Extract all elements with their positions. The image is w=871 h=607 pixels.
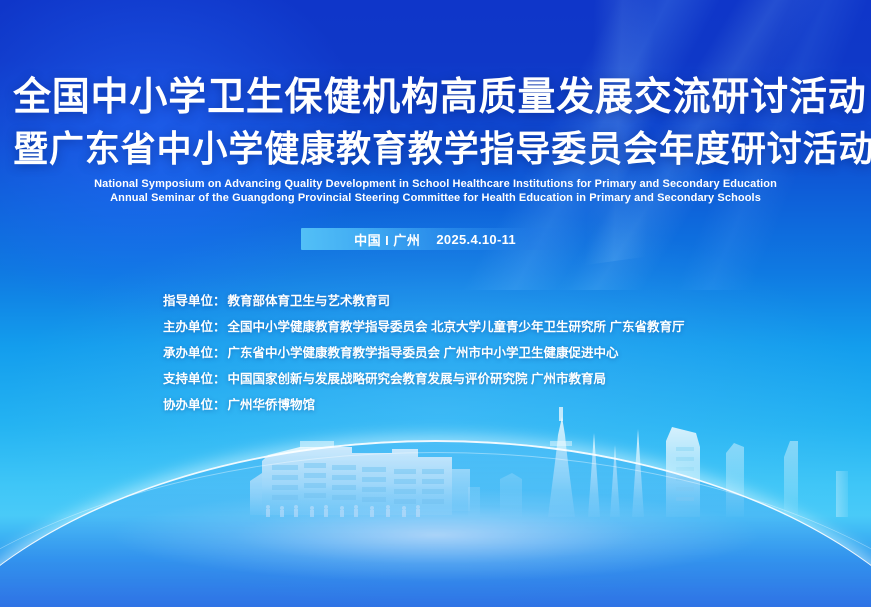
poster-content: 全国中小学卫生保健机构高质量发展交流研讨活动 暨广东省中小学健康教育教学指导委员…	[0, 0, 871, 607]
org-label: 指导单位：	[163, 294, 226, 308]
organizations-list: 指导单位：教育部体育卫生与艺术教育司 主办单位：全国中小学健康教育教学指导委员会…	[163, 288, 783, 418]
page-title-line-1: 全国中小学卫生保健机构高质量发展交流研讨活动	[13, 76, 858, 120]
org-label: 主办单位：	[163, 320, 226, 334]
page-title-line-2: 暨广东省中小学健康教育教学指导委员会年度研讨活动	[13, 128, 858, 170]
org-label: 协办单位：	[163, 398, 226, 412]
subtitle-english-line-2: Annual Seminar of the Guangdong Provinci…	[0, 192, 871, 204]
subtitle-english-line-1: National Symposium on Advancing Quality …	[0, 178, 871, 190]
list-item: 主办单位：全国中小学健康教育教学指导委员会 北京大学儿童青少年卫生研究所 广东省…	[163, 314, 783, 340]
location-text: 中国 I 广州	[354, 230, 420, 249]
conference-poster: 全国中小学卫生保健机构高质量发展交流研讨活动 暨广东省中小学健康教育教学指导委员…	[0, 0, 871, 607]
location-date-bar: 中国 I 广州 2025.4.10-11	[301, 228, 569, 250]
list-item: 协办单位：广州华侨博物馆	[163, 392, 783, 418]
list-item: 支持单位：中国国家创新与发展战略研究会教育发展与评价研究院 广州市教育局	[163, 366, 783, 392]
org-label: 承办单位：	[163, 346, 226, 360]
org-value: 中国国家创新与发展战略研究会教育发展与评价研究院 广州市教育局	[228, 372, 606, 386]
org-value: 广东省中小学健康教育教学指导委员会 广州市中小学卫生健康促进中心	[228, 346, 619, 360]
org-label: 支持单位：	[163, 372, 226, 386]
date-text: 2025.4.10-11	[436, 232, 516, 247]
org-value: 教育部体育卫生与艺术教育司	[228, 294, 391, 308]
org-value: 全国中小学健康教育教学指导委员会 北京大学儿童青少年卫生研究所 广东省教育厅	[228, 320, 685, 334]
list-item: 承办单位：广东省中小学健康教育教学指导委员会 广州市中小学卫生健康促进中心	[163, 340, 783, 366]
org-value: 广州华侨博物馆	[228, 398, 316, 412]
list-item: 指导单位：教育部体育卫生与艺术教育司	[163, 288, 783, 314]
